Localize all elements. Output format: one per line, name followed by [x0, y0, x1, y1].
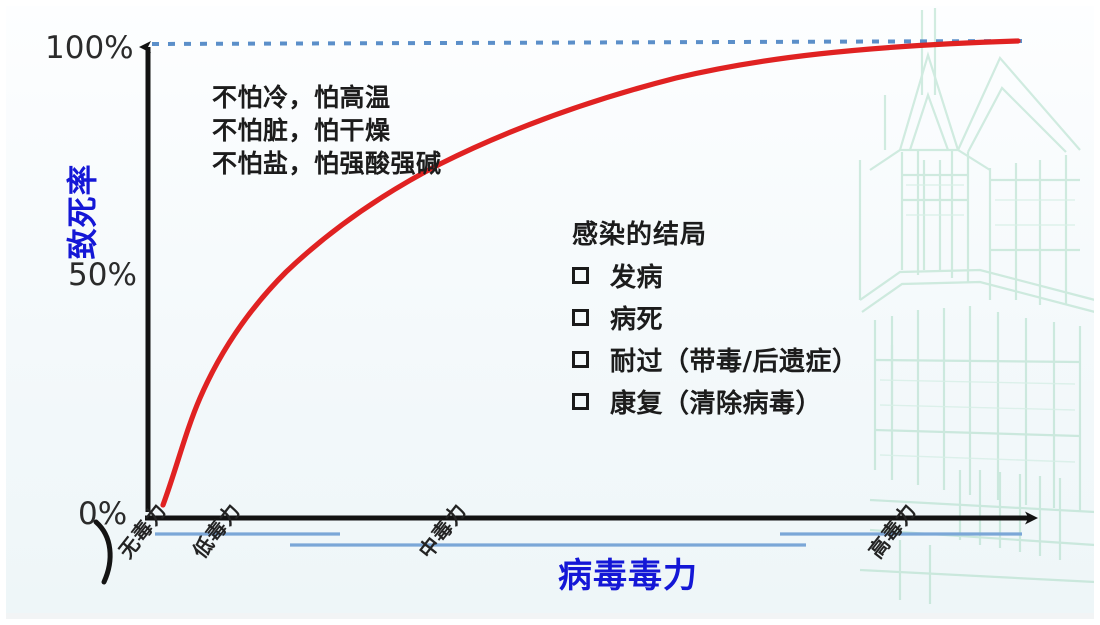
note-line-1: 不怕冷，怕高温	[212, 82, 442, 115]
x-axis-title: 病毒毒力	[558, 548, 698, 597]
y-tick-0: 0%	[78, 496, 127, 532]
virus-property-notes: 不怕冷，怕高温 不怕脏，怕干燥 不怕盐，怕强酸强碱	[212, 82, 442, 180]
legend-item-survived[interactable]: 耐过（带毒/后遗症）	[572, 341, 859, 378]
asymptote-dashed-line	[152, 41, 1022, 44]
checkbox-icon[interactable]	[572, 393, 589, 410]
legend-item-label: 耐过（带毒/后遗症）	[610, 341, 859, 378]
slide-bottom-strip	[0, 613, 1100, 625]
infection-outcome-legend: 感染的结局 发病 病死 耐过（带毒/后遗症） 康复（清除病毒）	[572, 214, 859, 420]
legend-item-recovered[interactable]: 康复（清除病毒）	[572, 383, 859, 420]
checkbox-icon[interactable]	[572, 309, 589, 326]
legend-title: 感染的结局	[572, 214, 859, 251]
slide-canvas: 100% 50% 0% 致死率 病毒毒力 无毒力 低毒力 中毒力 高毒力 不怕冷…	[0, 0, 1100, 625]
checkbox-icon[interactable]	[572, 351, 589, 368]
legend-item-label: 病死	[610, 299, 663, 336]
legend-item-onset[interactable]: 发病	[572, 257, 859, 294]
legend-item-label: 康复（清除病毒）	[610, 383, 822, 420]
legend-item-death[interactable]: 病死	[572, 299, 859, 336]
checkbox-icon[interactable]	[572, 267, 589, 284]
chart-graphic	[0, 0, 1100, 625]
legend-item-label: 发病	[610, 257, 663, 294]
y-tick-100: 100%	[45, 30, 134, 66]
note-line-2: 不怕脏，怕干燥	[212, 115, 442, 148]
note-line-3: 不怕盐，怕强酸强碱	[212, 148, 442, 181]
y-axis-title: 致死率	[69, 122, 100, 302]
